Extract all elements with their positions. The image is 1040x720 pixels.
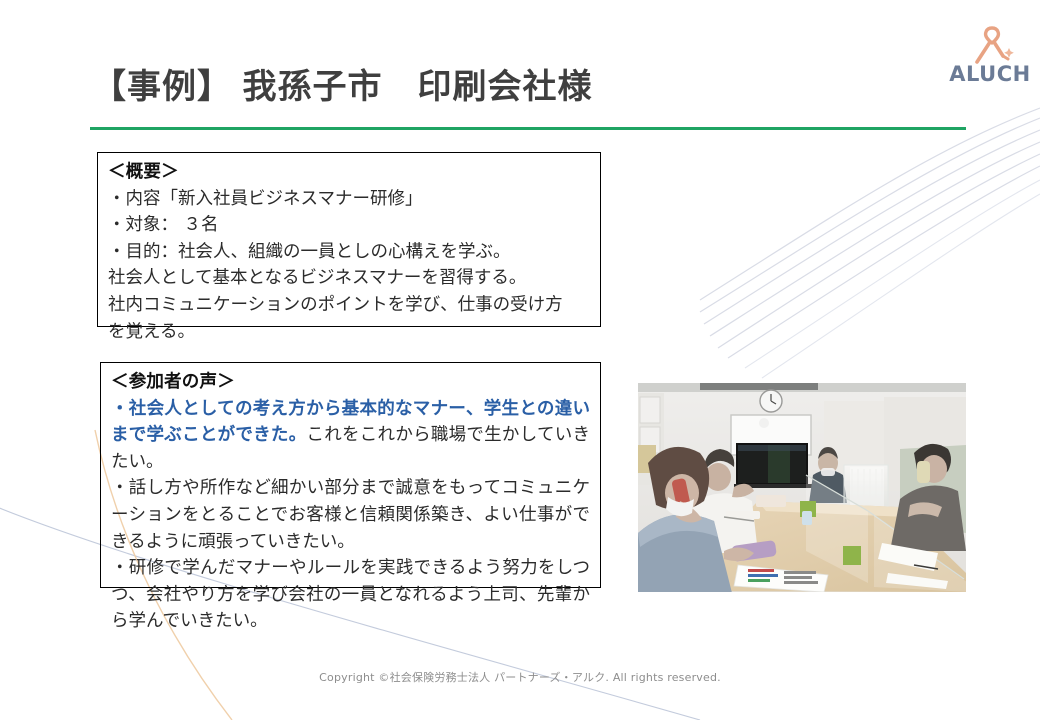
ribbon-mark-icon <box>970 26 1014 66</box>
training-room-photo <box>638 383 966 592</box>
voice-entry: ・話し方や所作など細かい部分まで誠意をもってコミュニケーションをとることでお客様… <box>111 475 590 555</box>
logo-wordmark: ALUCH <box>948 64 1032 85</box>
voice-rest: ・研修で学んだマナーやルールを実践できるよう努力をしつつ、会社やり方を学び会社の… <box>111 558 590 631</box>
overview-heading: ＜概要＞ <box>108 159 590 186</box>
title-underline-rule <box>90 127 966 130</box>
slide-canvas: ALUCH 【事例】 我孫子市 印刷会社様 ＜概要＞ ・内容「新入社員ビジネスマ… <box>0 0 1040 720</box>
overview-textbox: ＜概要＞ ・内容「新入社員ビジネスマナー研修」 ・対象： ３名 ・目的：社会人、… <box>97 152 601 327</box>
overview-line: ・目的：社会人、組織の一員としの心構えを学ぶ。 <box>108 239 590 266</box>
overview-line: ・内容「新入社員ビジネスマナー研修」 <box>108 186 590 213</box>
overview-line: を覚える。 <box>108 319 590 346</box>
voice-rest: ・話し方や所作など細かい部分まで誠意をもってコミュニケーションをとることでお客様… <box>111 478 590 551</box>
voice-entry: ・社会人としての考え方から基本的なマナー、学生との違いまで学ぶことができた。これ… <box>111 396 590 476</box>
photo-illustration <box>638 383 966 592</box>
overview-line: 社会人として基本となるビジネスマナーを習得する。 <box>108 265 590 292</box>
footer-copyright: Copyright ©社会保険労務士法人 パートナーズ・アルク. All rig… <box>0 669 1040 685</box>
page-title: 【事例】 我孫子市 印刷会社様 <box>92 68 592 107</box>
overview-line: ・対象： ３名 <box>108 212 590 239</box>
voice-entry: ・研修で学んだマナーやルールを実践できるよう努力をしつつ、会社やり方を学び会社の… <box>111 555 590 635</box>
participant-voices-textbox: ＜参加者の声＞ ・社会人としての考え方から基本的なマナー、学生との違いまで学ぶこ… <box>100 362 601 588</box>
voices-heading: ＜参加者の声＞ <box>111 369 590 396</box>
aluch-logo: ALUCH <box>948 26 1032 92</box>
overview-line: 社内コミュニケーションのポイントを学び、仕事の受け方 <box>108 292 590 319</box>
